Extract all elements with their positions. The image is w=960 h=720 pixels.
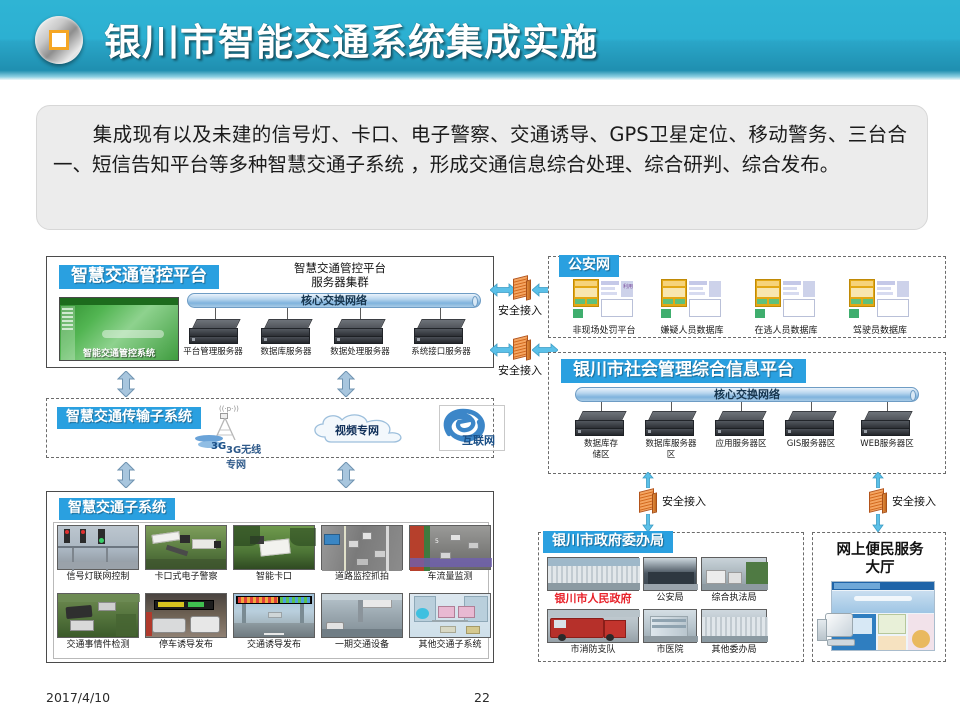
server-icon: [645, 411, 697, 437]
social-mgmt-platform-title: 银川市社会管理综合信息平台: [561, 359, 806, 383]
server-icon: [334, 319, 386, 345]
internet-explorer-icon: 互联网: [439, 405, 505, 451]
tile-traffic-guidance-release[interactable]: 交通诱导发布: [233, 593, 315, 651]
server-icon: [189, 319, 241, 345]
computer-monitor-icon: [817, 613, 859, 651]
online-service-hall-box: 网上便民服务 大厅: [812, 532, 946, 662]
cluster-caption: 智慧交通管控平台 服务器集群: [265, 261, 415, 289]
server-label: 数据处理服务器: [320, 347, 400, 358]
tile-label: 银川市人民政府: [547, 593, 639, 604]
radio-tower-icon: ((·p·)) 3G 3G无线专网: [193, 403, 265, 455]
server-icon: [575, 411, 627, 437]
firewall-brick-icon: [638, 488, 658, 514]
network-label: 视频专网: [335, 422, 379, 438]
zone-label: 应用服务器区: [701, 439, 781, 450]
tile-public-security-bureau[interactable]: 公安局: [643, 557, 697, 604]
tile-label: 市消防支队: [547, 645, 639, 656]
secure-access-node-3: 安全接入: [632, 476, 722, 532]
firewall-brick-icon: [512, 275, 532, 301]
db-item-label: 在逃人员数据库: [741, 323, 831, 336]
secure-access-label: 安全接入: [498, 362, 542, 378]
square-badge-icon: [35, 16, 83, 64]
server-icon: [715, 411, 767, 437]
network-label: 3G无线专网: [226, 441, 265, 471]
tile-checkpoint-camera[interactable]: 卡口式电子警察: [145, 525, 227, 583]
page-title: 银川市智能交通系统集成实施: [104, 12, 598, 66]
tile-traffic-flow-monitor[interactable]: 5 车流量监测: [409, 525, 491, 583]
tile-smart-checkpoint[interactable]: 智能卡口: [233, 525, 315, 583]
secure-access-label: 安全接入: [498, 302, 542, 318]
database-screen-thumbnail[interactable]: [661, 279, 723, 323]
server-icon: [261, 319, 313, 345]
zone-label: 数据库服务器 区: [633, 439, 709, 460]
server-label: 系统接口服务器: [401, 347, 481, 358]
server-label: 数据库服务器: [248, 347, 324, 358]
cloud-icon: 视频专网: [309, 411, 419, 447]
connector-arrow-vertical: [117, 371, 135, 397]
tile-label: 信号灯联网控制: [57, 572, 139, 583]
network-label: 互联网: [462, 432, 495, 448]
tile-label: 公安局: [643, 593, 697, 604]
core-exchange-network-bar-right: 核心交换网络: [575, 387, 919, 402]
zone-label: GIS服务器区: [771, 439, 851, 450]
database-screen-thumbnail[interactable]: [849, 279, 911, 323]
server-label: 平台管理服务器: [175, 347, 251, 358]
db-item-label: 嫌疑人员数据库: [647, 323, 737, 336]
tile-label: 市医院: [643, 645, 697, 656]
tile-label: 交通事情件检测: [57, 640, 139, 651]
social-mgmt-platform-box: 银川市社会管理综合信息平台 核心交换网络 数据库存 储区 数据库服务器 区 应用…: [548, 352, 946, 474]
zone-label: 数据库存 储区: [563, 439, 639, 460]
server-icon: [861, 411, 913, 437]
tile-label: 交通诱导发布: [233, 640, 315, 651]
screenshot-label: 智能交通管控系统: [60, 346, 178, 359]
zone-label: WEB服务器区: [845, 439, 929, 450]
server-icon: [414, 319, 466, 345]
database-screen-thumbnail[interactable]: [755, 279, 817, 323]
db-item-label: 非现场处罚平台: [559, 323, 649, 336]
slide-header: 银川市智能交通系统集成实施: [0, 0, 960, 80]
footer-page-number: 22: [474, 690, 490, 705]
tile-label: 其他委办局: [701, 645, 767, 656]
transport-subsystem-box: 智慧交通传输子系统 ((·p·)) 3G 3G无线专网 视频专网: [46, 398, 494, 458]
db-item-label: 驾驶员数据库: [835, 323, 925, 336]
core-exchange-network-bar-left: 核心交换网络: [187, 293, 481, 308]
tile-label: 卡口式电子警察: [145, 572, 227, 583]
core-network-label: 核心交换网络: [301, 294, 367, 307]
tile-law-enforcement-bureau[interactable]: 综合执法局: [701, 557, 767, 604]
server-icon: [785, 411, 837, 437]
connector-arrow-vertical: [117, 462, 135, 488]
online-service-hall-title: 网上便民服务 大厅: [813, 541, 947, 577]
connector-arrow-vertical: [337, 371, 355, 397]
tile-city-government[interactable]: 银川市人民政府: [547, 557, 639, 604]
firewall-brick-icon: [512, 335, 532, 361]
tile-incident-detection[interactable]: 交通事情件检测: [57, 593, 139, 651]
government-bureaus-title: 银川市政府委办局: [543, 531, 673, 553]
tile-label: 车流量监测: [409, 572, 491, 583]
control-platform-box: 智慧交通管控平台 智能交通管控系统 智慧交通管控平台 服务器集群 核心交换网络: [46, 256, 494, 368]
tile-label: 智能卡口: [233, 572, 315, 583]
tile-road-surveillance[interactable]: 道路监控抓拍: [321, 525, 403, 583]
intro-text-panel: 集成现有以及未建的信号灯、卡口、电子警察、交通诱导、GPS卫星定位、移动警务、三…: [36, 105, 928, 230]
traffic-subsystem-box: 智慧交通子系统 信号灯联网控制: [46, 491, 494, 663]
control-platform-title: 智慧交通管控平台: [59, 265, 219, 289]
secure-access-label: 安全接入: [892, 493, 936, 509]
tile-city-hospital[interactable]: 市医院: [643, 609, 697, 656]
tile-other-subsystems[interactable]: 其他交通子系统: [409, 593, 491, 651]
architecture-diagram: 智慧交通管控平台 智能交通管控系统 智慧交通管控平台 服务器集群 核心交换网络: [0, 248, 960, 673]
tile-label: 停车诱导发布: [145, 640, 227, 651]
traffic-subsystem-title: 智慧交通子系统: [59, 498, 175, 520]
tile-fire-brigade[interactable]: 市消防支队: [547, 609, 639, 656]
public-security-net-box: 公安网 利用 非现场处罚平台: [548, 256, 946, 338]
core-network-label: 核心交换网络: [714, 388, 780, 401]
tile-signal-light[interactable]: 信号灯联网控制: [57, 525, 139, 583]
tile-parking-guidance[interactable]: 停车诱导发布: [145, 593, 227, 651]
tile-label: 道路监控抓拍: [321, 572, 403, 583]
public-security-net-title: 公安网: [559, 255, 619, 277]
connector-arrow-vertical: [337, 462, 355, 488]
tile-label: 一期交通设备: [321, 640, 403, 651]
secure-access-label: 安全接入: [662, 493, 706, 509]
tile-phase1-equipment[interactable]: 一期交通设备: [321, 593, 403, 651]
footer-date: 2017/4/10: [46, 690, 110, 705]
tile-other-bureaus[interactable]: 其他委办局: [701, 609, 767, 656]
secure-access-node-4: 安全接入: [862, 476, 952, 532]
tile-label: 综合执法局: [701, 593, 767, 604]
transport-subsystem-title: 智慧交通传输子系统: [57, 407, 201, 429]
database-screen-thumbnail[interactable]: 利用: [573, 279, 635, 323]
firewall-brick-icon: [868, 488, 888, 514]
control-system-screenshot: 智能交通管控系统: [59, 297, 179, 361]
government-bureaus-box: 银川市政府委办局 银川市人民政府 公安局 综合执法局: [538, 532, 804, 662]
tile-label: 其他交通子系统: [409, 640, 491, 651]
